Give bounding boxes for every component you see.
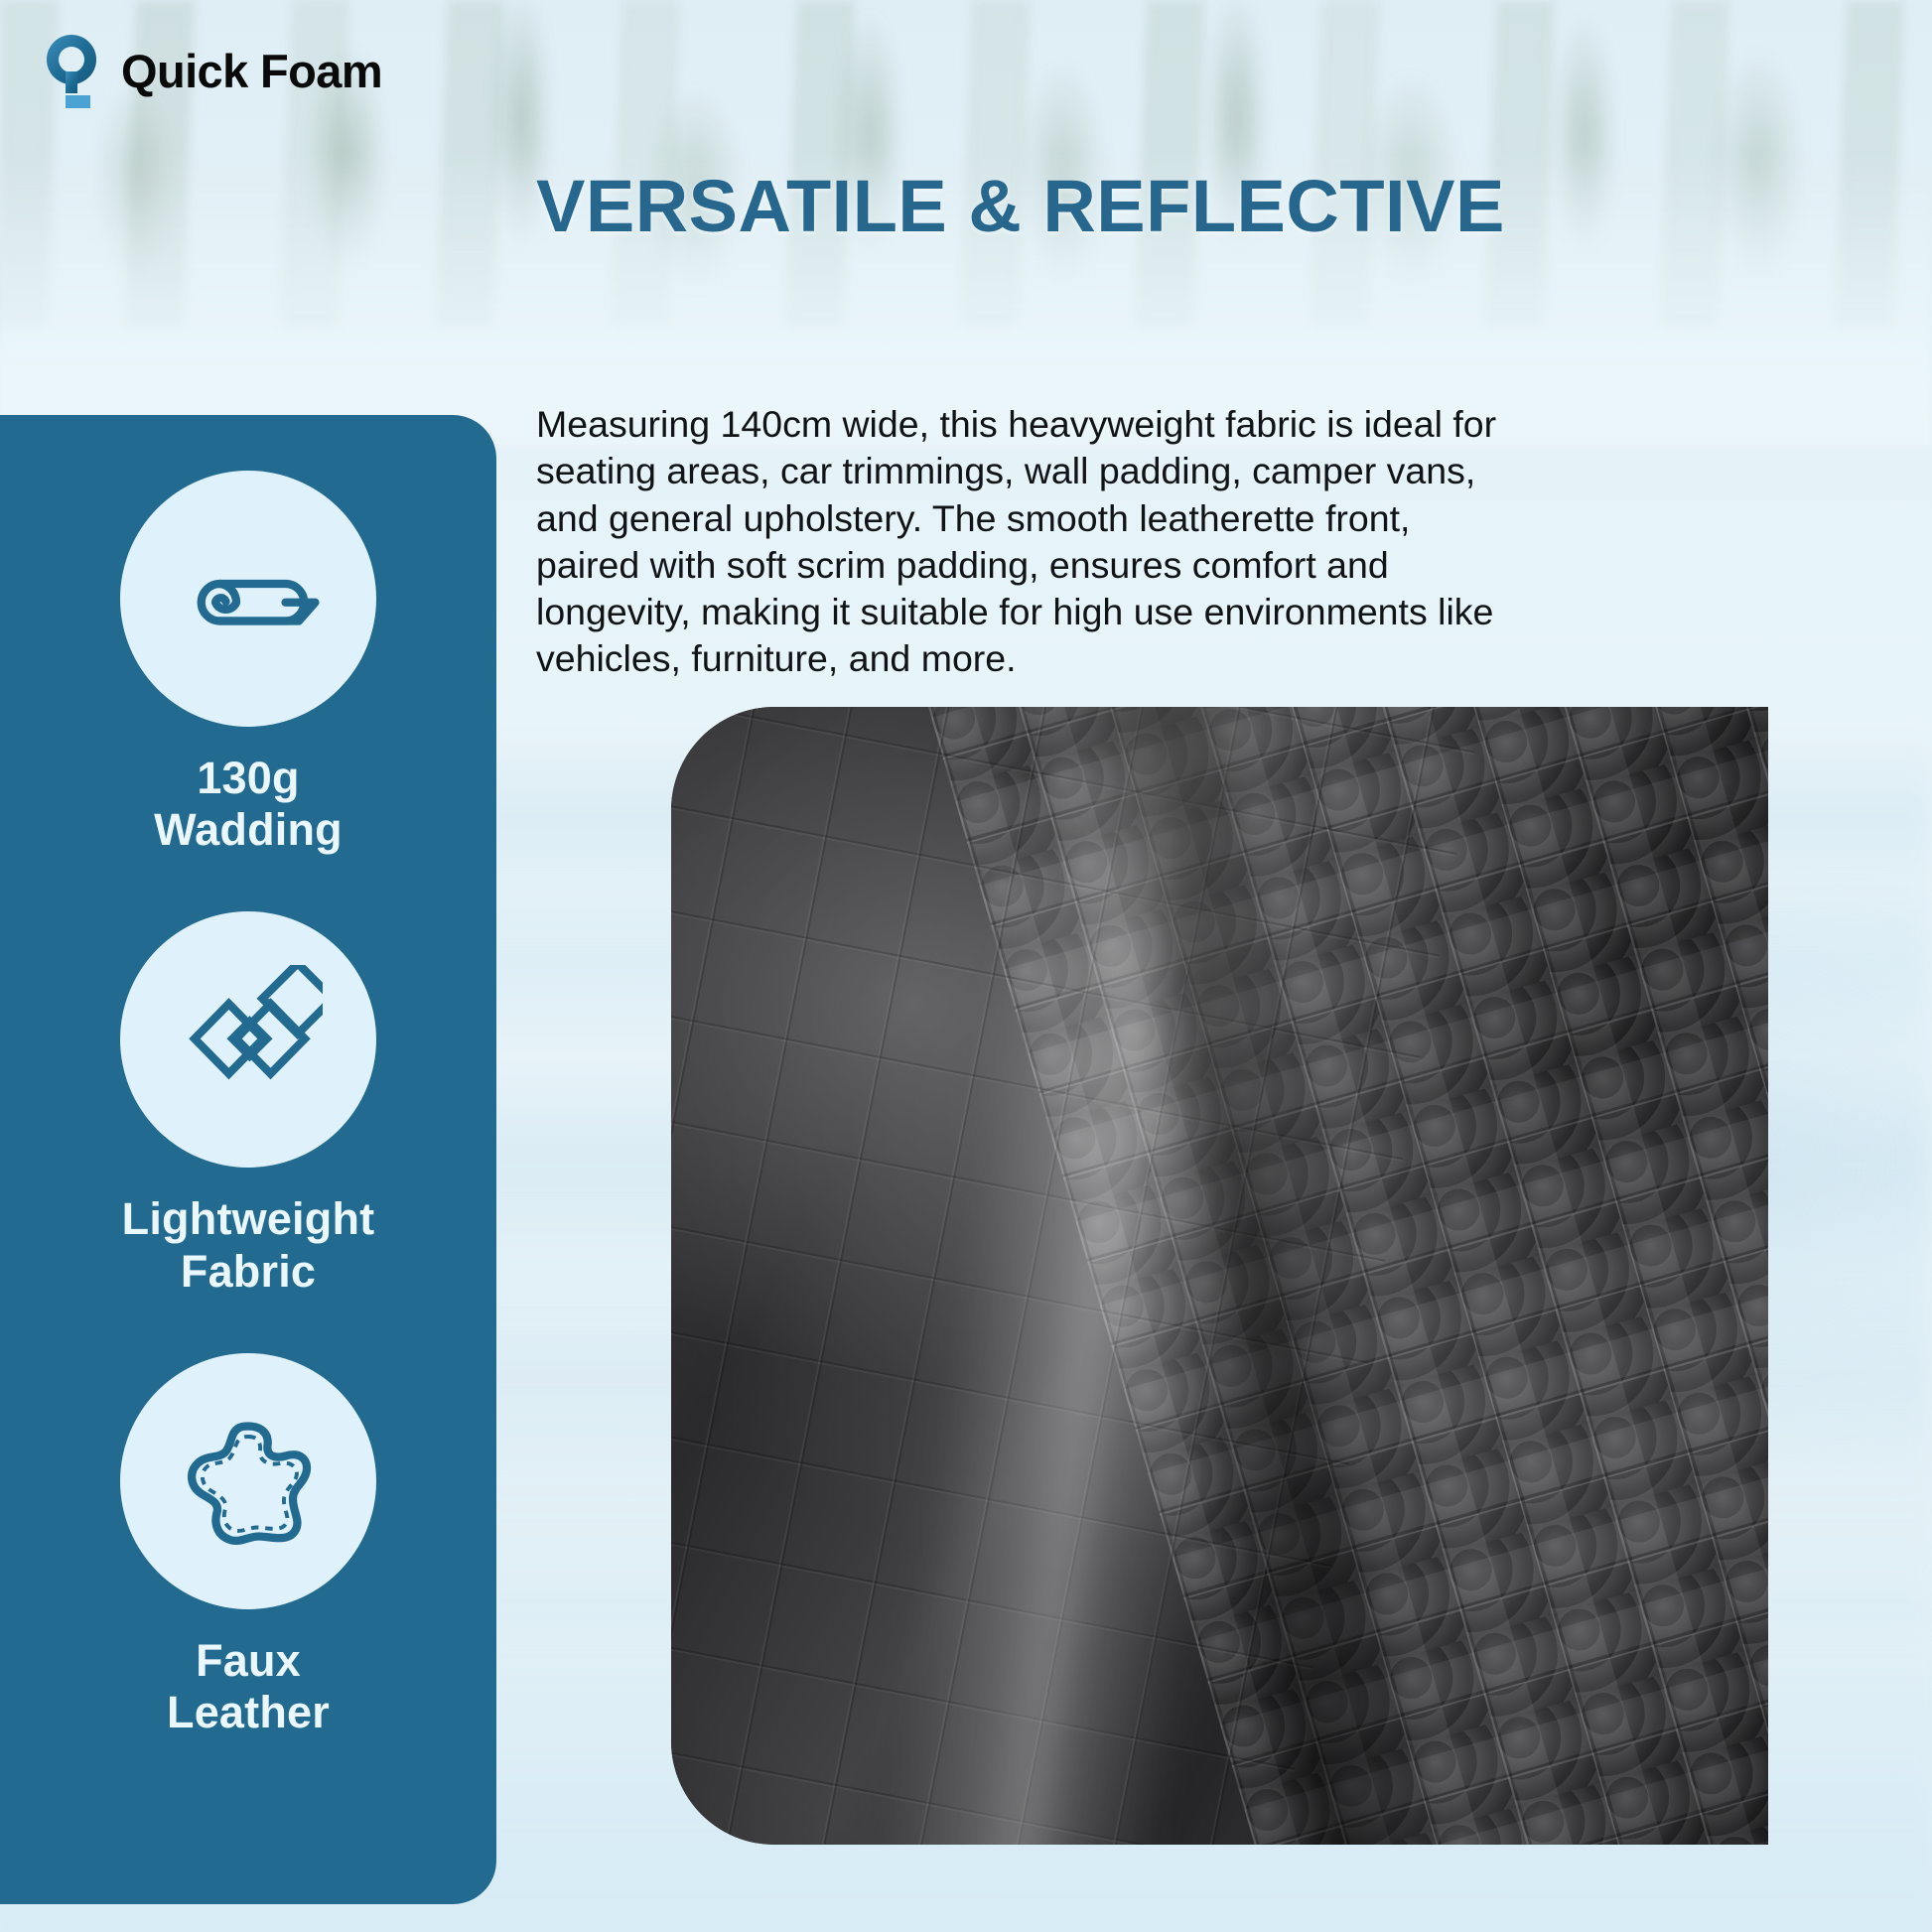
page-title: VERSATILE & REFLECTIVE [536, 169, 1886, 245]
photo-vignette [671, 707, 1768, 1845]
rolled-wadding-icon [120, 471, 376, 727]
brand-name: Quick Foam [121, 48, 382, 94]
feature-item-faux-leather: Faux Leather [0, 1353, 496, 1738]
feature-label-lightweight: Lightweight Fabric [122, 1193, 375, 1297]
leather-hide-icon [120, 1353, 376, 1609]
product-photo [671, 707, 1768, 1845]
feature-sidebar: 130g Wadding Lightweight Fabric [0, 415, 496, 1904]
quick-foam-q-logo-icon [40, 32, 105, 109]
overlapping-diamonds-icon [120, 911, 376, 1168]
brand-logo: Quick Foam [40, 32, 382, 109]
feature-item-lightweight: Lightweight Fabric [0, 911, 496, 1297]
feature-label-wadding: 130g Wadding [154, 753, 343, 856]
description-text: Measuring 140cm wide, this heavyweight f… [536, 401, 1509, 683]
description-block: Measuring 140cm wide, this heavyweight f… [536, 401, 1509, 683]
feature-item-wadding: 130g Wadding [0, 471, 496, 856]
feature-label-faux-leather: Faux Leather [167, 1635, 330, 1738]
